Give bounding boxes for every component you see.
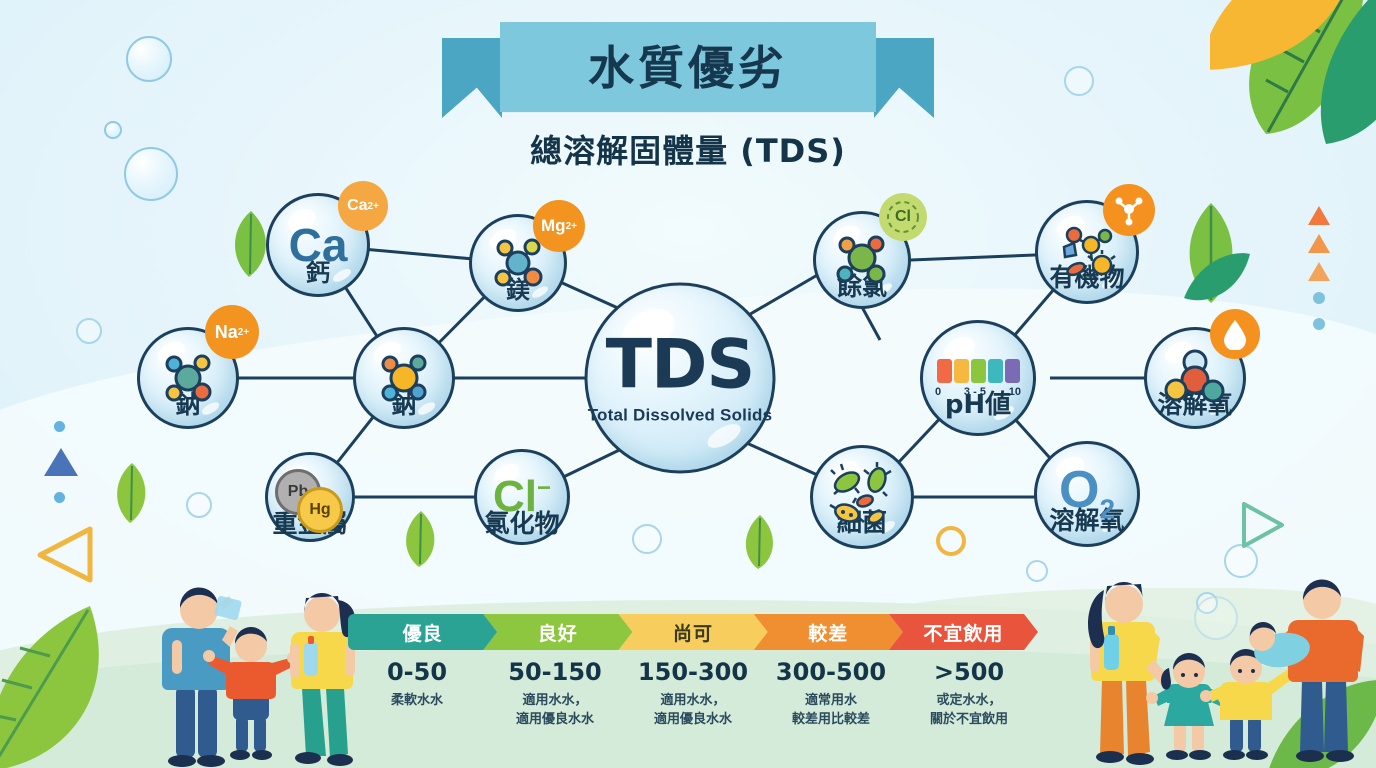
badge-sup: 2+: [368, 201, 379, 212]
bubble-bacteria[interactable]: [810, 445, 914, 549]
node-ph-value[interactable]: 03 - 510 pH値: [920, 320, 1036, 436]
scale-description: 適用水水，適用優良水水: [624, 692, 762, 730]
badge-text: Na: [215, 322, 238, 343]
node-calcium[interactable]: Ca Ca2+ 鈣: [266, 193, 370, 297]
ph-swatch-1: [954, 359, 969, 383]
water-drop-badge: [1210, 309, 1260, 359]
scale-arrow-0[interactable]: 優良: [348, 614, 497, 650]
calcium-ion-badge: Ca2+: [338, 181, 388, 231]
tds-full-name: Total Dissolved Solids: [588, 405, 773, 425]
scale-grade-label: 較差: [808, 619, 848, 646]
scale-cell-3: 300-500適常用水較差用比較差: [762, 658, 900, 730]
scale-cell-1: 50-150適用水水，適用優良水水: [486, 658, 624, 730]
node-sodium-left[interactable]: Na2+ 鈉: [137, 327, 239, 429]
ph-color-strip: [937, 359, 1020, 383]
node-dissolved-oxygen-right[interactable]: 溶解氧: [1144, 327, 1246, 429]
scale-cell-0: 0-50柔軟水水: [348, 658, 486, 730]
node-chloride[interactable]: Cl− 氯化物: [474, 449, 570, 545]
mercury-badge: Hg: [297, 487, 343, 533]
scale-description: 戓定水水，關於不宜飲用: [900, 692, 1038, 730]
node-organic-matter[interactable]: 有機物: [1035, 200, 1139, 304]
scale-grade-label: 不宜飲用: [923, 619, 1003, 646]
scale-description: 適常用水較差用比較差: [762, 692, 900, 730]
ph-tick-2: 10: [1009, 386, 1021, 398]
bubble-tds[interactable]: TDS Total Dissolved Solids: [585, 283, 776, 474]
molecule-icon: [1112, 193, 1146, 227]
node-tds-center[interactable]: TDS Total Dissolved Solids: [585, 283, 776, 474]
ph-swatch-3: [988, 359, 1003, 383]
sodium-ion-badge: Na2+: [205, 305, 259, 359]
node-magnesium[interactable]: Mg2+ 鎂: [469, 214, 567, 312]
scale-arrow-1[interactable]: 良好: [483, 614, 632, 650]
calcium-symbol: Ca: [289, 222, 348, 268]
scale-range: 300-500: [762, 658, 900, 686]
scale-cell-4: >500戓定水水，關於不宜飲用: [900, 658, 1038, 730]
water-drop-icon: [1222, 318, 1248, 350]
mercury-symbol: Hg: [309, 501, 330, 519]
scale-description: 適用水水，適用優良水水: [486, 692, 624, 730]
scale-arrow-4[interactable]: 不宜飲用: [889, 614, 1038, 650]
badge-text: Cl: [895, 208, 911, 226]
oxygen-symbol: O2: [1059, 464, 1115, 523]
molecule-icon: [156, 346, 220, 410]
node-sodium-mid[interactable]: 鈉: [353, 327, 455, 429]
infographic-canvas: 水質優劣 總溶解固體量 (TDS): [0, 0, 1376, 768]
scale-cell-2: 150-300適用水水，適用優良水水: [624, 658, 762, 730]
water-quality-scale: 優良良好尚可較差不宜飲用 0-50柔軟水水50-150適用水水，適用優良水水15…: [348, 614, 1038, 730]
ph-swatch-2: [971, 359, 986, 383]
bacteria-icon: [825, 460, 899, 534]
badge-text: Ca: [347, 197, 367, 215]
chloride-charge: −: [537, 474, 551, 501]
scale-grade-label: 優良: [403, 619, 443, 646]
ph-swatch-4: [1005, 359, 1020, 383]
scale-description: 柔軟水水: [348, 692, 486, 711]
scale-range: 150-300: [624, 658, 762, 686]
scale-arrow-2[interactable]: 尚可: [618, 614, 767, 650]
molecule-icon: [1163, 346, 1227, 410]
magnesium-ion-badge: Mg2+: [533, 200, 585, 252]
chloride-letter: Cl: [493, 472, 537, 521]
node-residual-chlorine[interactable]: Cl 餘氯: [813, 211, 911, 309]
scale-range: >500: [900, 658, 1038, 686]
ph-tick-1: 3 - 5: [964, 386, 986, 398]
node-heavy-metals[interactable]: Pb Hg 重金屬: [265, 452, 355, 542]
oxygen-subscript: 2: [1099, 494, 1115, 525]
badge-text: Mg: [541, 216, 566, 236]
ph-tick-0: 0: [935, 386, 941, 398]
chloride-symbol: Cl−: [493, 475, 551, 519]
scale-arrow-3[interactable]: 較差: [754, 614, 903, 650]
ph-swatch-0: [937, 359, 952, 383]
scale-grade-label: 良好: [538, 619, 578, 646]
badge-sup: 2+: [566, 221, 577, 232]
tds-acronym: TDS: [606, 331, 755, 399]
badge-sup: 2+: [238, 327, 249, 338]
node-dissolved-oxygen-o2[interactable]: O2 溶解氧: [1034, 441, 1140, 547]
node-bacteria[interactable]: 細菌: [810, 445, 914, 549]
scale-grade-arrows: 優良良好尚可較差不宜飲用: [348, 614, 1038, 650]
scale-detail-cells: 0-50柔軟水水50-150適用水水，適用優良水水150-300適用水水，適用優…: [348, 658, 1038, 730]
scale-range: 50-150: [486, 658, 624, 686]
oxygen-letter: O: [1059, 461, 1099, 519]
chlorine-badge: Cl: [879, 193, 927, 241]
molecule-icon: [372, 346, 436, 410]
scale-grade-label: 尚可: [673, 619, 713, 646]
organic-molecule-badge: [1103, 184, 1155, 236]
scale-range: 0-50: [348, 658, 486, 686]
ph-tick-labels: 03 - 510: [935, 386, 1021, 398]
